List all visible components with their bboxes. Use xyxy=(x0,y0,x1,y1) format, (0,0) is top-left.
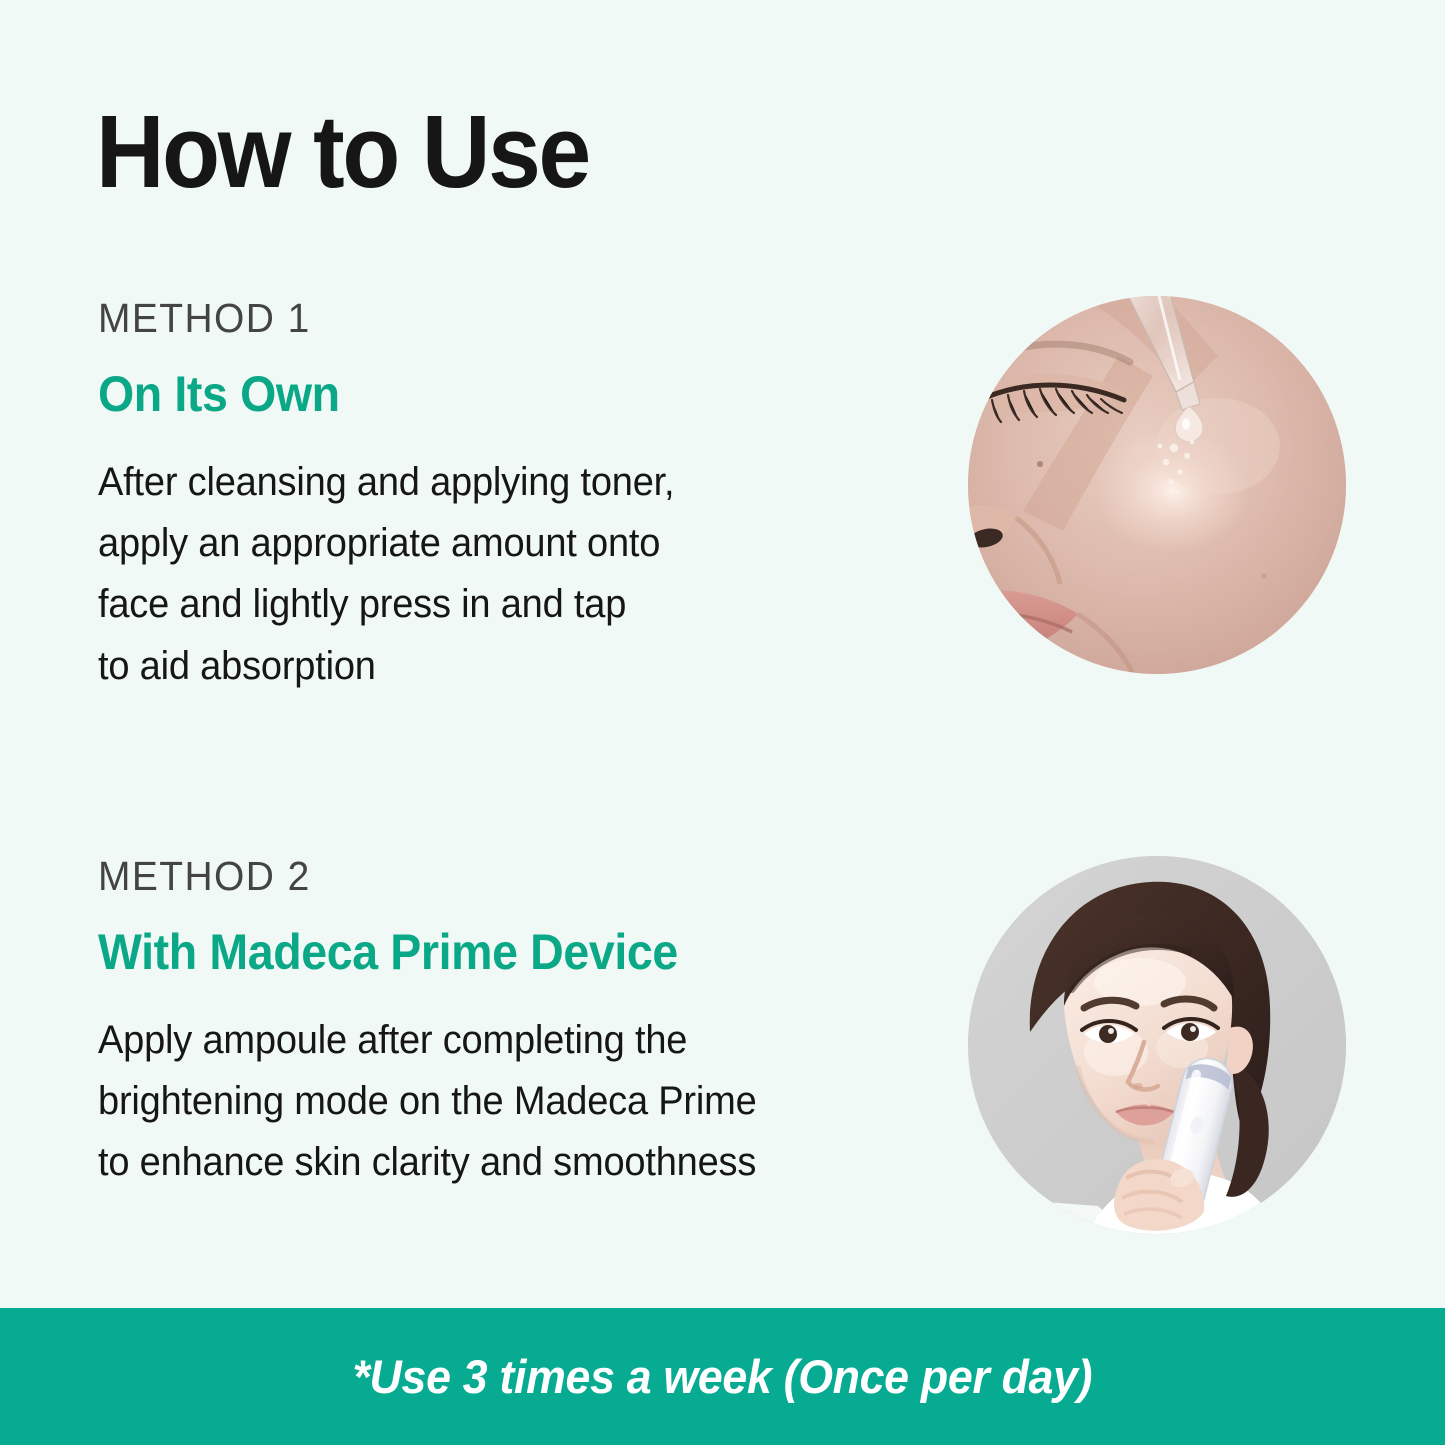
method-1-label: METHOD 1 xyxy=(98,296,674,341)
footer-banner: *Use 3 times a week (Once per day) xyxy=(0,1308,1445,1445)
method-2-label: METHOD 2 xyxy=(98,854,757,899)
how-to-use-infographic: How to Use METHOD 1 On Its Own After cle… xyxy=(0,0,1445,1445)
method-2-body: Apply ampoule after completing the brigh… xyxy=(98,1010,757,1194)
method-2-block: METHOD 2 With Madeca Prime Device Apply … xyxy=(98,854,791,1194)
method-1-photo-dropper-on-cheek xyxy=(968,296,1346,674)
model-device-illustration xyxy=(968,856,1346,1234)
face-serum-illustration xyxy=(968,296,1346,674)
method-2-photo-model-with-device xyxy=(968,856,1346,1234)
method-1-heading: On Its Own xyxy=(98,367,662,422)
page-title: How to Use xyxy=(96,98,589,206)
method-2-heading: With Madeca Prime Device xyxy=(98,925,743,980)
method-1-block: METHOD 1 On Its Own After cleansing and … xyxy=(98,296,705,697)
usage-frequency-note: *Use 3 times a week (Once per day) xyxy=(353,1349,1093,1404)
method-1-body: After cleansing and applying toner, appl… xyxy=(98,452,674,697)
